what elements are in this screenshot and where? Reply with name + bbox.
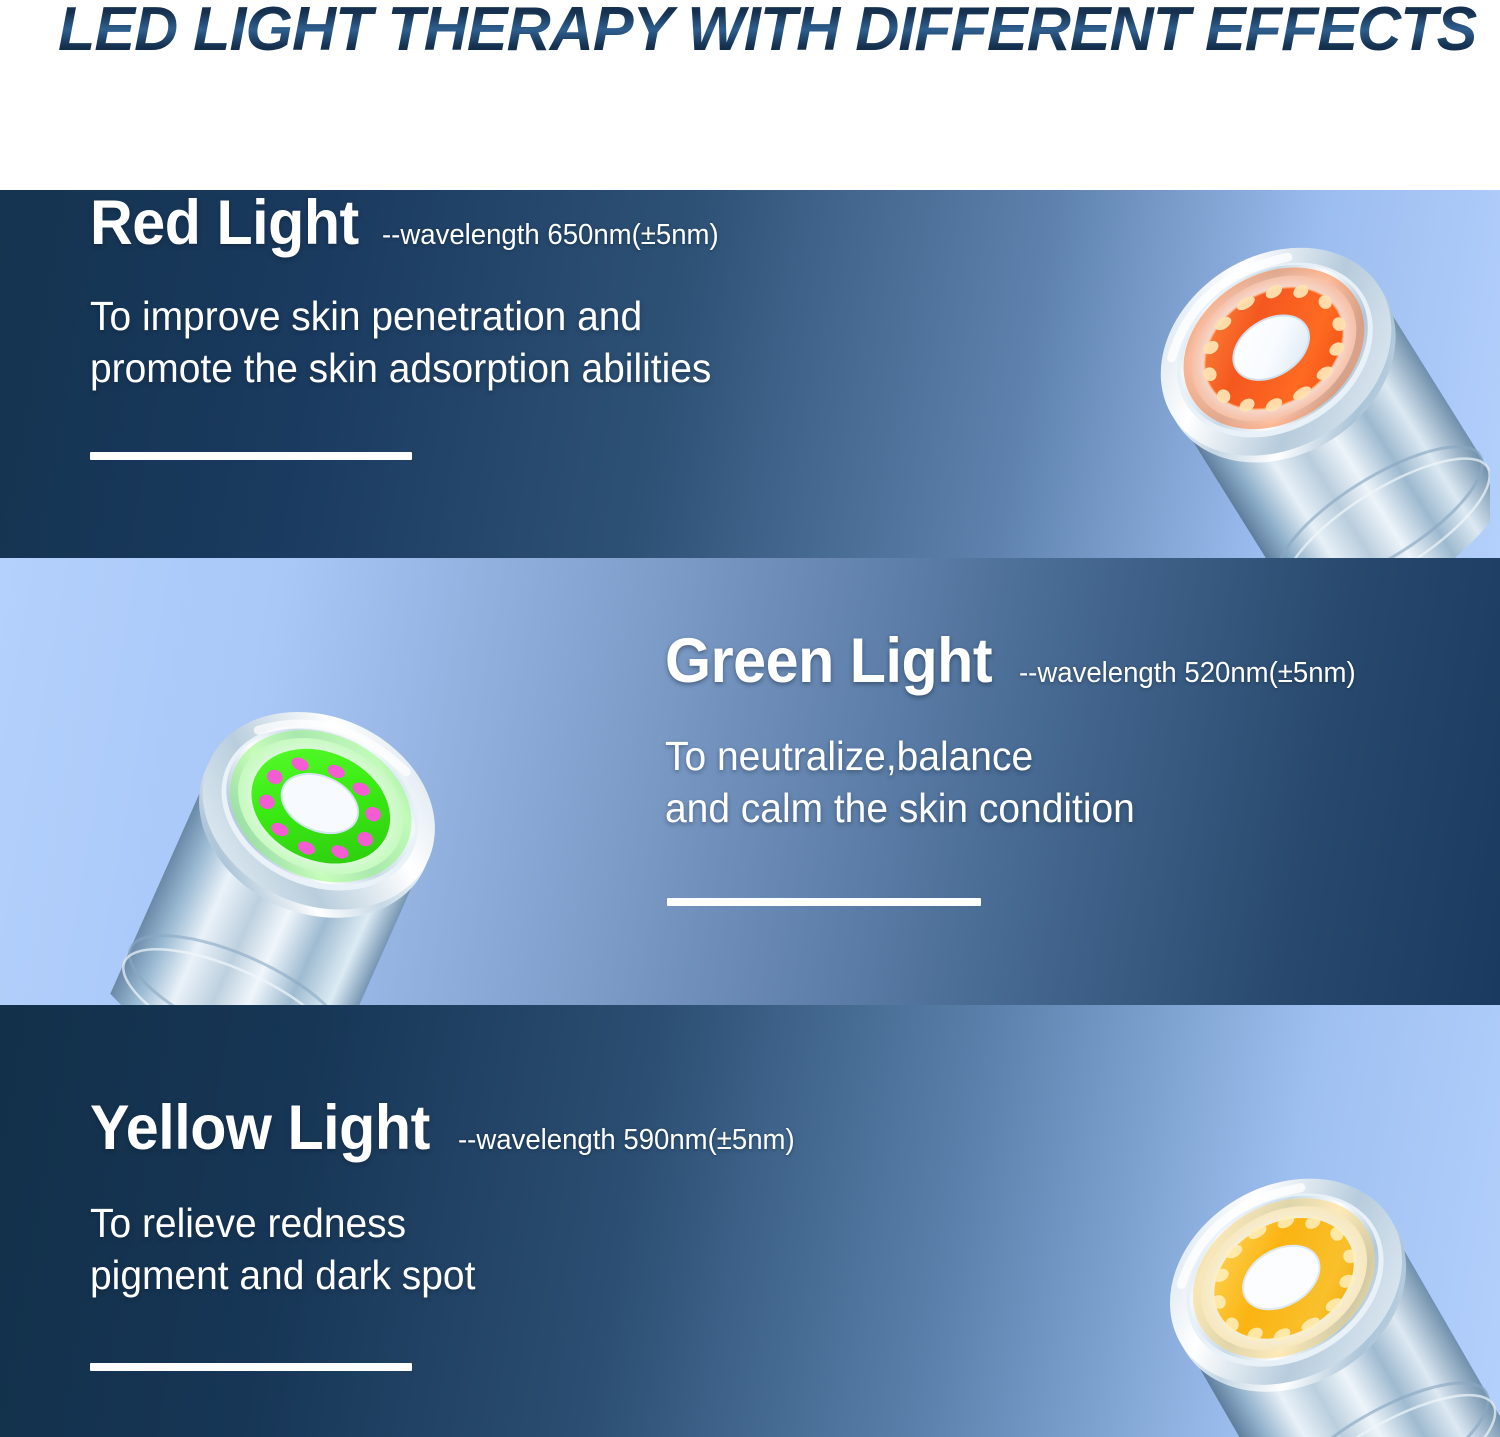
body-red-line-2: promote the skin adsorption abilities (90, 342, 711, 394)
body-green-line-1: To neutralize,balance (665, 730, 1135, 782)
body-green: To neutralize,balance and calm the skin … (665, 730, 1135, 835)
heading-yellow-title: Yellow Light (90, 1097, 430, 1160)
led-wand-red-icon (1060, 135, 1490, 558)
divider-green (667, 898, 981, 906)
body-red: To improve skin penetration and promote … (90, 290, 711, 395)
section-yellow-light: Yellow Light--wavelength 590nm(±5nm) To … (0, 1005, 1500, 1437)
heading-yellow-wavelength: --wavelength 590nm(±5nm) (458, 1126, 795, 1155)
heading-green: Green Light--wavelength 520nm(±5nm) (665, 630, 1373, 693)
body-yellow-line-2: pigment and dark spot (90, 1249, 475, 1301)
heading-yellow: Yellow Light--wavelength 590nm(±5nm) (90, 1097, 812, 1160)
heading-red-wavelength: --wavelength 650nm(±5nm) (382, 221, 719, 250)
heading-red: Red Light--wavelength 650nm(±5nm) (90, 192, 736, 255)
wave-mask (0, 60, 1500, 180)
body-yellow: To relieve redness pigment and dark spot (90, 1197, 475, 1302)
infographic-page: Red Light--wavelength 650nm(±5nm) To imp… (0, 0, 1500, 1437)
led-wand-yellow-icon (1070, 1065, 1500, 1437)
heading-green-title: Green Light (665, 630, 992, 693)
heading-green-wavelength: --wavelength 520nm(±5nm) (1019, 659, 1356, 688)
body-red-line-1: To improve skin penetration and (90, 290, 711, 342)
body-green-line-2: and calm the skin condition (665, 782, 1135, 834)
divider-yellow (90, 1363, 412, 1371)
led-wand-green-icon (110, 598, 530, 1005)
page-title: LED LIGHT THERAPY WITH DIFFERENT EFFECTS (58, 0, 1476, 65)
heading-red-title: Red Light (90, 192, 359, 255)
body-yellow-line-1: To relieve redness (90, 1197, 475, 1249)
section-green-light: Green Light--wavelength 520nm(±5nm) To n… (0, 558, 1500, 1005)
divider-red (90, 452, 412, 460)
